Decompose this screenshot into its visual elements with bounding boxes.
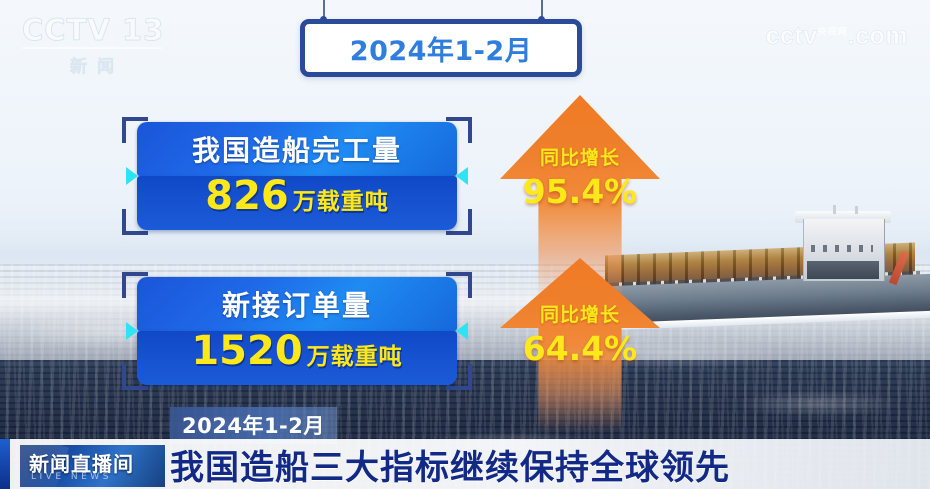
stat-card-1-value: 826 [205,176,289,216]
cctv13-logo-subtitle: 新闻 [22,52,172,77]
stat-card-new-orders: 新接订单量 1520 万载重吨 [137,277,457,385]
stat-card-1-header: 我国造船完工量 [137,122,457,176]
program-logo: 新闻直播间 LIVE NEWS [20,445,165,487]
stat-card-2-marker-right-icon [456,322,468,340]
growth-arrow-2: 同比增长 64.4% [500,258,660,433]
cctv13-watermark: CCTV 13 新闻 [22,16,172,77]
cctv13-logo-text: CCTV 13 [22,16,172,45]
stat-card-2-value: 1520 [191,331,302,371]
lower-third-accent [0,439,10,489]
cctvcom-name: cctv [766,22,818,50]
stat-card-1-unit: 万载重吨 [293,182,389,216]
ship-bridge-base [807,261,879,279]
headline-text: 我国造船三大指标继续保持全球领先 [170,440,730,489]
ship-antenna-icon [855,206,858,214]
stat-card-1-marker-right-icon [456,167,468,185]
cctvcom-watermark: cctv央视网.com [766,22,908,51]
stat-card-1-marker-left-icon [126,167,138,185]
stat-card-2-title: 新接订单量 [222,284,372,324]
lower-third-headline: 我国造船三大指标继续保持全球领先 [170,440,910,488]
growth-arrow-1-value-row: 95.4% [500,175,660,208]
growth-arrow-2-value-row: 64.4% [500,332,660,365]
growth-arrow-2-percent-sign: % [604,329,637,368]
growth-arrow-2-value: 64.4 [523,329,604,368]
growth-arrow-2-label-text: 同比增长 [540,305,620,326]
lower-third-date-text: 2024年1-2月 [182,414,325,438]
growth-arrow-1-label: 同比增长 [500,143,660,170]
ship-bridge-windows [811,245,873,252]
date-period-label: 2024年1-2月 [350,29,532,68]
cctv13-logo-rule [22,47,162,49]
stat-card-2-marker-left-icon [126,322,138,340]
growth-arrow-1-value: 95.4 [523,172,604,211]
ship-mast-icon [833,205,836,214]
broadcast-screen: CCTV 13 新闻 cctv央视网.com 2024年1-2月 我国造船完工量… [0,0,930,489]
stat-card-1-value-row: 826 万载重吨 [137,176,457,230]
growth-arrow-2-label: 同比增长 [500,300,660,327]
stat-card-1-title: 我国造船完工量 [192,129,402,169]
cctvcom-cn-name: 央视网 [818,27,848,37]
cctvcom-suffix: .com [848,22,908,50]
stat-card-shipbuilding-output: 我国造船完工量 826 万载重吨 [137,122,457,230]
program-subtitle: LIVE NEWS [31,472,112,482]
stat-card-2-value-row: 1520 万载重吨 [137,331,457,385]
growth-arrow-1-percent-sign: % [604,172,637,211]
stat-card-2-unit: 万载重吨 [307,337,403,371]
stat-card-2-header: 新接订单量 [137,277,457,331]
date-period-badge: 2024年1-2月 [300,19,582,77]
